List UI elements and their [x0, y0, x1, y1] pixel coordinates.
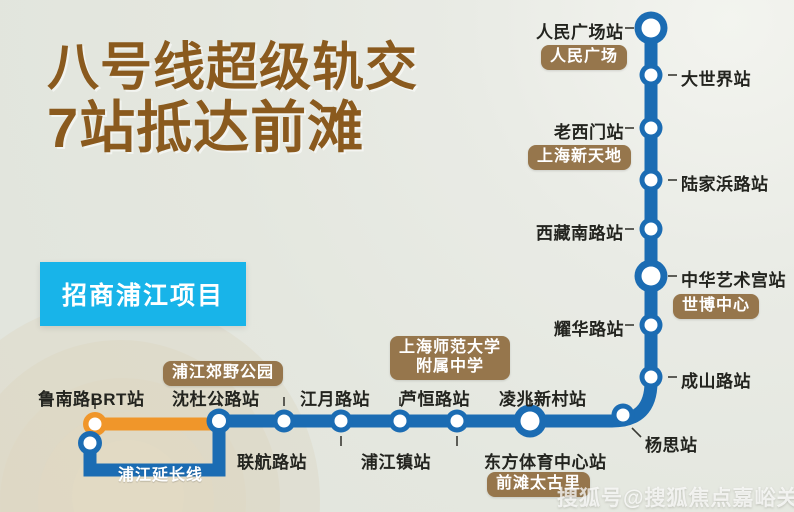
- station-label-renmin-guangchang: 人民广场站: [536, 18, 624, 43]
- headline-line-2: 7站抵达前滩: [47, 99, 418, 156]
- station-node-lujiabang-lu[interactable]: [640, 169, 663, 192]
- station-label-shendu-gonglu: 沈杜公路站: [172, 385, 260, 410]
- station-label-dashijie: 大世界站: [681, 65, 751, 90]
- station-label-jiangyue-lu: 江月路站: [300, 385, 370, 410]
- landmark-tag-shida-line2: 附属中学: [416, 358, 484, 375]
- station-node-lingzhao-xincun[interactable]: [446, 410, 469, 433]
- station-label-yangsi: 杨思站: [645, 431, 698, 456]
- headline-line-1: 八号线超级轨交: [47, 42, 418, 95]
- station-node-jiangyue-lu[interactable]: [273, 410, 296, 433]
- station-label-luheng-lu: 芦恒路站: [400, 385, 470, 410]
- station-node-yangsi[interactable]: [612, 404, 635, 427]
- project-badge: 招商浦江项目: [40, 262, 246, 326]
- station-node-shendu-gonglu[interactable]: [207, 409, 232, 434]
- landmark-tag-renmin-guangchang: 人民广场: [541, 45, 627, 70]
- landmark-tag-pujiang-jiaoye: 浦江郊野公园: [163, 361, 283, 386]
- watermark: 搜狐号@搜狐焦点嘉峪关站: [557, 482, 794, 512]
- branch-line-label: 浦江延长线: [118, 461, 203, 485]
- station-node-zhonghua-yishugong[interactable]: [635, 260, 668, 293]
- station-node-laoximen[interactable]: [640, 117, 663, 140]
- station-node-dashijie[interactable]: [640, 64, 663, 87]
- station-label-chengshan-lu: 成山路站: [681, 367, 751, 392]
- station-node-pujiang-zhen[interactable]: [330, 410, 353, 433]
- station-label-zhonghua-yishugong: 中华艺术宫站: [681, 266, 786, 291]
- station-label-lianhang-lu: 联航路站: [237, 448, 307, 473]
- station-node-luheng-lu[interactable]: [389, 410, 412, 433]
- station-label-lingzhao-xincun: 凌兆新村站: [499, 385, 587, 410]
- landmark-tag-shibo-zhongxin: 世博中心: [673, 294, 759, 319]
- station-node-renmin-guangchang[interactable]: [635, 12, 668, 45]
- station-node-yaohua-lu[interactable]: [640, 314, 663, 337]
- station-label-dongfang-tiyu: 东方体育中心站: [484, 448, 607, 473]
- headline-block: 八号线超级轨交 7站抵达前滩: [47, 42, 418, 156]
- station-label-xizang-nan-lu: 西藏南路站: [536, 219, 624, 244]
- landmark-tag-shida-line1: 上海师范大学: [399, 339, 501, 356]
- station-label-lunan-lu-brt: 鲁南路BRT站: [38, 385, 144, 410]
- station-node-branch-terminus[interactable]: [78, 431, 102, 455]
- station-label-pujiang-zhen: 浦江镇站: [361, 448, 431, 473]
- landmark-tag-shida-fuzhong: 上海师范大学 附属中学: [390, 336, 510, 380]
- station-label-laoximen: 老西门站: [554, 118, 624, 143]
- station-label-yaohua-lu: 耀华路站: [554, 315, 624, 340]
- metro-map-infographic: 八号线超级轨交 7站抵达前滩 招商浦江项目: [0, 0, 794, 512]
- landmark-tag-xintiandi: 上海新天地: [528, 145, 631, 170]
- station-node-chengshan-lu[interactable]: [640, 366, 663, 389]
- station-label-lujiabang-lu: 陆家浜路站: [681, 170, 769, 195]
- station-node-xizang-nan-lu[interactable]: [640, 218, 663, 241]
